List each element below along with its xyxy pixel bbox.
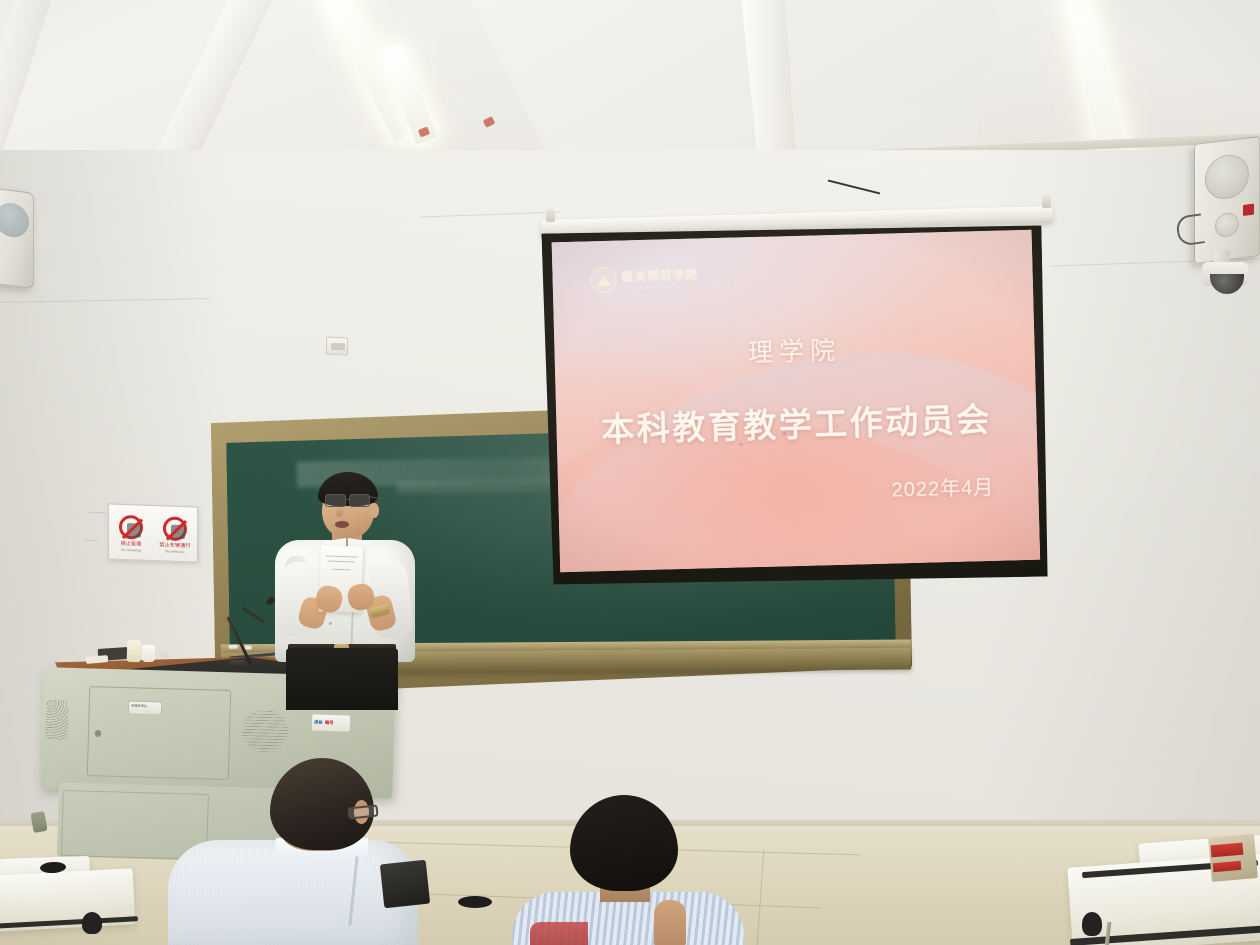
cardboard-box (1208, 834, 1258, 882)
sign-title-en: No Smoking (121, 548, 140, 553)
podium-door-lock[interactable] (95, 730, 101, 736)
eyeglasses-icon (325, 494, 346, 507)
sticker-text-red: 编号 (325, 720, 334, 726)
no-smoking-icon (119, 515, 143, 540)
desk-bag-hook[interactable] (1082, 912, 1102, 936)
vehicle-glyph (171, 525, 185, 539)
speaker-trousers (286, 648, 398, 710)
document-text-line (326, 555, 358, 558)
chalk-piece[interactable] (245, 645, 252, 649)
sign-no-vehicles: 禁止车辆通行 No Vehicles (153, 506, 197, 562)
university-logo-text: 韶关师范学院 SHAOGUAN NORMAL UNIVERSITY (621, 266, 731, 291)
screen-bracket (546, 209, 555, 222)
eyeglasses-icon (349, 494, 370, 507)
podium-cabinet-door[interactable] (87, 686, 231, 780)
university-crest-icon (590, 267, 617, 294)
chalk-piece[interactable] (229, 645, 238, 649)
podium-spec-plate: 多媒体讲台 (128, 701, 162, 716)
light-switch[interactable] (326, 337, 348, 356)
logo-name-cn: 韶关师范学院 (621, 266, 731, 285)
water-bottle[interactable] (127, 640, 142, 662)
screen-speck (837, 425, 839, 427)
desk-bag-hook[interactable] (82, 912, 102, 934)
prohibition-signs: 禁止吸烟 No Smoking 禁止车辆通行 No Vehicles (108, 503, 198, 562)
shirt-button (329, 622, 332, 625)
sign-title-en: No Vehicles (165, 549, 184, 554)
document-text-line (332, 569, 350, 571)
speaker-brand-badge (1243, 204, 1254, 216)
projection-screen: 韶关师范学院 SHAOGUAN NORMAL UNIVERSITY 理学院 本科… (541, 221, 1050, 590)
classroom-photo: 禁止吸烟 No Smoking 禁止车辆通行 No Vehicles (0, 0, 1260, 945)
speaker-cone-icon (0, 201, 29, 239)
eyeglasses-bridge (345, 499, 350, 500)
floor-cable-port (458, 896, 492, 908)
attendee-right-hand (654, 900, 686, 945)
speaker-mouth (335, 521, 349, 528)
sign-title-cn: 禁止吸烟 (121, 540, 142, 548)
speaker-nose (336, 506, 343, 517)
speaker-tweeter-icon (1215, 212, 1239, 239)
slide-date: 2022年4月 (891, 471, 994, 503)
wall-speaker-left (0, 187, 34, 289)
cigarette-glyph (127, 523, 141, 537)
attendee-left-device[interactable] (380, 860, 430, 909)
screen-surface: 韶关师范学院 SHAOGUAN NORMAL UNIVERSITY 理学院 本科… (552, 230, 1040, 572)
cup[interactable] (142, 645, 155, 662)
speaker-ear (370, 503, 379, 518)
screen-bracket (1042, 195, 1051, 208)
sticker-text-cn: 讲台 (314, 720, 323, 726)
university-logo: 韶关师范学院 SHAOGUAN NORMAL UNIVERSITY (590, 264, 731, 294)
podium-speaker-grille (45, 700, 68, 741)
speaker-woofer-icon (1205, 152, 1249, 201)
attendee-right-garment-accent (530, 922, 588, 945)
sign-no-smoking: 禁止吸烟 No Smoking (109, 504, 153, 560)
no-vehicles-icon (163, 516, 187, 541)
screen-speck (783, 432, 786, 435)
presentation-slide: 韶关师范学院 SHAOGUAN NORMAL UNIVERSITY 理学院 本科… (552, 230, 1040, 572)
podium-asset-sticker: 讲台 编号 (312, 714, 350, 731)
document-text-line (328, 561, 355, 563)
remote-control[interactable] (160, 652, 169, 658)
microphone-base (229, 660, 245, 668)
wall-speaker-right (1194, 136, 1260, 264)
sign-title-cn: 禁止车辆通行 (159, 541, 190, 549)
